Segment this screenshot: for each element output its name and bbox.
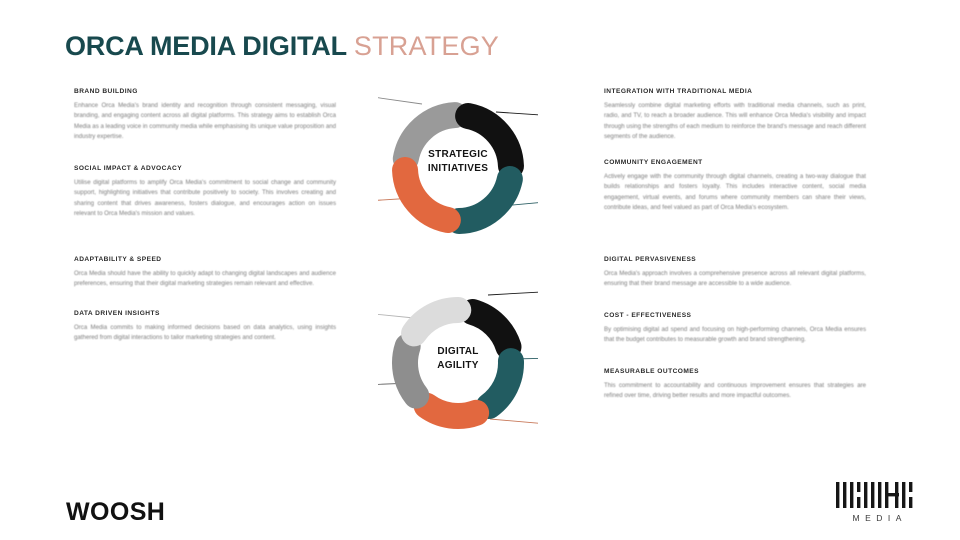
content-block: BRAND BUILDING Enhance Orca Media's bran… <box>74 88 336 143</box>
content-block: INTEGRATION WITH TRADITIONAL MEDIA Seaml… <box>604 88 866 143</box>
block-heading: COST - EFFECTIVENESS <box>604 312 866 319</box>
content-block: COST - EFFECTIVENESS By optimising digit… <box>604 312 866 346</box>
donut-svg <box>378 88 538 248</box>
block-body: This commitment to accountability and co… <box>604 381 866 402</box>
block-heading: INTEGRATION WITH TRADITIONAL MEDIA <box>604 88 866 95</box>
content-block: ADAPTABILITY & SPEED Orca Media should h… <box>74 256 336 290</box>
page-title: ORCA MEDIA DIGITALSTRATEGY <box>65 31 499 62</box>
block-body: Orca Media commits to making informed de… <box>74 323 336 344</box>
block-heading: COMMUNITY ENGAGEMENT <box>604 159 866 166</box>
content-block: DATA DRIVEN INSIGHTS Orca Media commits … <box>74 310 336 344</box>
media-logo-word: MEDIA <box>818 513 936 523</box>
block-heading: ADAPTABILITY & SPEED <box>74 256 336 263</box>
block-body: Actively engage with the community throu… <box>604 172 866 214</box>
block-heading: DATA DRIVEN INSIGHTS <box>74 310 336 317</box>
right-content-column: INTEGRATION WITH TRADITIONAL MEDIA Seaml… <box>604 88 866 416</box>
donut-chart-strategic-initiatives: STRATEGIC INITIATIVES <box>378 88 538 248</box>
media-bars-icon <box>834 480 920 510</box>
slide-root: { "title": { "main": "ORCA MEDIA DIGITAL… <box>0 0 960 540</box>
block-heading: SOCIAL IMPACT & ADVOCACY <box>74 165 336 172</box>
block-heading: BRAND BUILDING <box>74 88 336 95</box>
block-body: Utilise digital platforms to amplify Orc… <box>74 178 336 220</box>
content-block: DIGITAL PERVASIVENESS Orca Media's appro… <box>604 256 866 290</box>
donut-segments <box>384 289 533 438</box>
block-heading: DIGITAL PERVASIVENESS <box>604 256 866 263</box>
block-body: Seamlessly combine digital marketing eff… <box>604 101 866 143</box>
content-block: SOCIAL IMPACT & ADVOCACY Utilise digital… <box>74 165 336 220</box>
media-partner-logo: MEDIA <box>818 480 936 523</box>
block-body: By optimising digital ad spend and focus… <box>604 325 866 346</box>
donut-segments <box>395 105 521 231</box>
block-body: Orca Media's approach involves a compreh… <box>604 269 866 290</box>
block-body: Orca Media should have the ability to qu… <box>74 269 336 290</box>
content-block: COMMUNITY ENGAGEMENT Actively engage wit… <box>604 159 866 214</box>
content-block: MEASURABLE OUTCOMES This commitment to a… <box>604 368 866 402</box>
page-title-main: ORCA MEDIA DIGITAL <box>65 31 347 61</box>
donut-svg <box>378 283 538 443</box>
woosh-logo: WOOSH <box>66 498 165 527</box>
left-content-column: BRAND BUILDING Enhance Orca Media's bran… <box>74 88 336 358</box>
block-body: Enhance Orca Media's brand identity and … <box>74 101 336 143</box>
page-title-accent: STRATEGY <box>354 31 499 61</box>
donut-chart-digital-agility: DIGITAL AGILITY <box>378 283 538 443</box>
block-heading: MEASURABLE OUTCOMES <box>604 368 866 375</box>
